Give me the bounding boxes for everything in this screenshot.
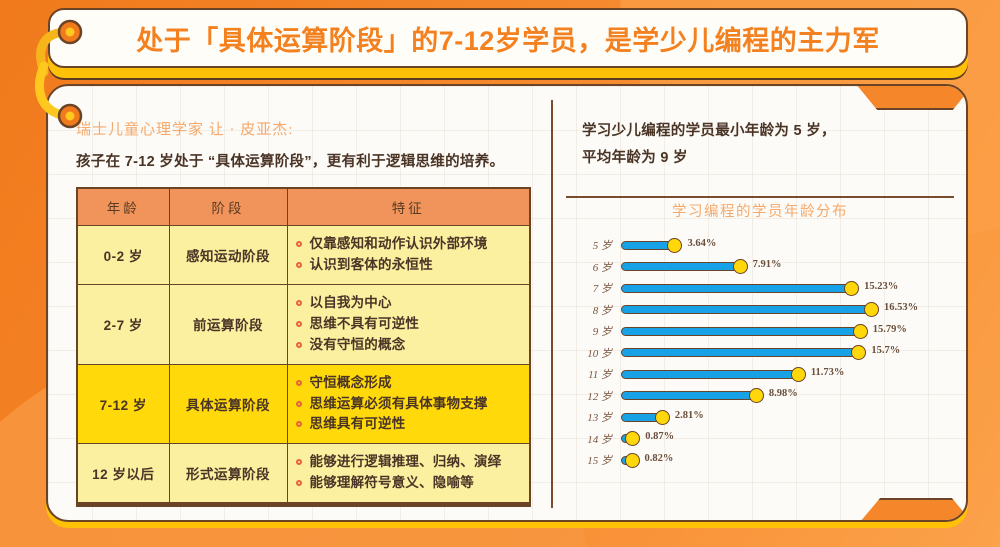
- bar-track: 7.91%: [621, 256, 958, 277]
- right-panel-divider: [566, 196, 954, 198]
- feature-item: 守恒概念形成: [294, 373, 524, 394]
- piaget-stage-table: 年龄 阶段 特征 0-2 岁感知运动阶段仅靠感知和动作认识外部环境认识到客体的永…: [76, 187, 531, 504]
- bar-category-label: 10 岁: [566, 345, 621, 361]
- bar-track: 2.81%: [621, 407, 958, 428]
- chart-bar-row: 15 岁0.82%: [566, 450, 958, 472]
- bar-fill: [621, 262, 742, 271]
- bar-category-label: 8 岁: [566, 302, 621, 318]
- cell-stage: 形式运算阶段: [169, 444, 287, 503]
- cell-features: 仅靠感知和动作认识外部环境认识到客体的永恒性: [287, 226, 530, 285]
- bar-value-label: 0.87%: [645, 431, 674, 442]
- cell-features: 守恒概念形成思维运算必须有具体事物支撑思维具有可逆性: [287, 364, 530, 444]
- bar-end-knob: [733, 259, 748, 274]
- feature-item: 以自我为中心: [294, 293, 524, 314]
- bar-category-label: 9 岁: [566, 323, 621, 339]
- cell-stage: 前运算阶段: [169, 284, 287, 364]
- chart-bar-row: 8 岁16.53%: [566, 299, 958, 321]
- cell-features: 以自我为中心思维不具有可逆性没有守恒的概念: [287, 284, 530, 364]
- feature-item: 能够进行逻辑推理、归纳、演绎: [294, 452, 524, 473]
- chart-bar-row: 6 岁7.91%: [566, 256, 958, 278]
- content-card: 瑞士儿童心理学家 让 · 皮亚杰: 孩子在 7-12 岁处于 “具体运算阶段”，…: [46, 84, 968, 522]
- chart-bar-row: 14 岁0.87%: [566, 428, 958, 450]
- feature-item: 思维运算必须有具体事物支撑: [294, 394, 524, 415]
- bar-value-label: 15.23%: [864, 281, 898, 292]
- page-title: 处于「具体运算阶段」的7-12岁学员，是学少儿编程的主力军: [136, 19, 880, 58]
- bar-value-label: 11.73%: [811, 367, 845, 378]
- bar-track: 0.87%: [621, 428, 958, 449]
- feature-item: 思维具有可逆性: [294, 414, 524, 435]
- right-headline: 学习少儿编程的学员最小年龄为 5 岁， 平均年龄为 9 岁: [582, 118, 960, 172]
- bar-category-label: 6 岁: [566, 259, 621, 275]
- chart-bar-row: 5 岁3.64%: [566, 235, 958, 257]
- bar-track: 11.73%: [621, 364, 958, 385]
- feature-item: 认识到客体的永恒性: [294, 255, 524, 276]
- chart-bar-row: 11 岁11.73%: [566, 364, 958, 386]
- column-header-feature: 特征: [287, 188, 530, 226]
- cell-features: 能够进行逻辑推理、归纳、演绎能够理解符号意义、隐喻等: [287, 444, 530, 503]
- feature-item: 能够理解符号意义、隐喻等: [294, 473, 524, 494]
- bar-fill: [621, 327, 862, 336]
- bar-value-label: 2.81%: [675, 410, 704, 421]
- cell-age: 7-12 岁: [77, 364, 169, 444]
- bar-end-knob: [667, 238, 682, 253]
- table-row: 12 岁以后形式运算阶段能够进行逻辑推理、归纳、演绎能够理解符号意义、隐喻等: [77, 444, 530, 503]
- chart-title: 学习编程的学员年龄分布: [560, 200, 960, 221]
- column-header-stage: 阶段: [169, 188, 287, 226]
- panel-divider: [551, 100, 553, 508]
- bar-value-label: 0.82%: [645, 453, 674, 464]
- table-body: 0-2 岁感知运动阶段仅靠感知和动作认识外部环境认识到客体的永恒性2-7 岁前运…: [77, 226, 530, 504]
- bar-end-knob: [791, 367, 806, 382]
- bar-track: 16.53%: [621, 299, 958, 320]
- bar-category-label: 12 岁: [566, 388, 621, 404]
- bar-category-label: 14 岁: [566, 431, 621, 447]
- title-banner: 处于「具体运算阶段」的7-12岁学员，是学少儿编程的主力军: [48, 8, 968, 68]
- chart-bar-row: 13 岁2.81%: [566, 407, 958, 429]
- bar-track: 3.64%: [621, 235, 958, 256]
- bar-end-knob: [844, 281, 859, 296]
- bar-value-label: 3.64%: [687, 238, 716, 249]
- bar-track: 8.98%: [621, 385, 958, 406]
- bar-value-label: 16.53%: [884, 302, 918, 313]
- chart-bar-row: 10 岁15.7%: [566, 342, 958, 364]
- cell-age: 0-2 岁: [77, 226, 169, 285]
- bar-track: 15.23%: [621, 278, 958, 299]
- bar-category-label: 15 岁: [566, 452, 621, 468]
- cell-age: 12 岁以后: [77, 444, 169, 503]
- bar-category-label: 5 岁: [566, 237, 621, 253]
- bar-fill: [621, 391, 758, 400]
- bar-end-knob: [851, 345, 866, 360]
- bar-category-label: 7 岁: [566, 280, 621, 296]
- bar-value-label: 8.98%: [769, 388, 798, 399]
- quote-author: 瑞士儿童心理学家 让 · 皮亚杰:: [76, 118, 546, 139]
- table-row: 0-2 岁感知运动阶段仅靠感知和动作认识外部环境认识到客体的永恒性: [77, 226, 530, 285]
- bar-end-knob: [625, 453, 640, 468]
- bar-track: 0.82%: [621, 450, 958, 471]
- right-headline-line2: 平均年龄为 9 岁: [582, 145, 960, 172]
- table-row: 2-7 岁前运算阶段以自我为中心思维不具有可逆性没有守恒的概念: [77, 284, 530, 364]
- table-row: 7-12 岁具体运算阶段守恒概念形成思维运算必须有具体事物支撑思维具有可逆性: [77, 364, 530, 444]
- right-panel: 学习少儿编程的学员最小年龄为 5 岁， 平均年龄为 9 岁 学习编程的学员年龄分…: [560, 96, 960, 514]
- infographic-page: 处于「具体运算阶段」的7-12岁学员，是学少儿编程的主力军 瑞士儿童心理学家 让…: [0, 0, 1000, 547]
- bar-fill: [621, 284, 853, 293]
- bar-end-knob: [749, 388, 764, 403]
- bar-fill: [621, 370, 800, 379]
- column-header-age: 年龄: [77, 188, 169, 226]
- left-panel: 瑞士儿童心理学家 让 · 皮亚杰: 孩子在 7-12 岁处于 “具体运算阶段”，…: [62, 96, 546, 514]
- bar-value-label: 15.79%: [873, 324, 907, 335]
- bar-fill: [621, 305, 873, 314]
- table-header-row: 年龄 阶段 特征: [77, 188, 530, 226]
- cell-stage: 感知运动阶段: [169, 226, 287, 285]
- bar-value-label: 15.7%: [871, 345, 900, 356]
- age-distribution-chart: 5 岁3.64%6 岁7.91%7 岁15.23%8 岁16.53%9 岁15.…: [566, 235, 958, 472]
- bar-category-label: 13 岁: [566, 409, 621, 425]
- bar-track: 15.79%: [621, 321, 958, 342]
- quote-body: 孩子在 7-12 岁处于 “具体运算阶段”，更有利于逻辑思维的培养。: [76, 150, 546, 171]
- chart-bar-row: 12 岁8.98%: [566, 385, 958, 407]
- bar-track: 15.7%: [621, 342, 958, 363]
- chart-bar-row: 7 岁15.23%: [566, 278, 958, 300]
- cell-age: 2-7 岁: [77, 284, 169, 364]
- right-headline-line1: 学习少儿编程的学员最小年龄为 5 岁，: [582, 118, 960, 145]
- feature-item: 思维不具有可逆性: [294, 314, 524, 335]
- bar-value-label: 7.91%: [753, 259, 782, 270]
- bar-end-knob: [864, 302, 879, 317]
- bar-fill: [621, 348, 860, 357]
- feature-item: 没有守恒的概念: [294, 335, 524, 356]
- bar-end-knob: [655, 410, 670, 425]
- feature-item: 仅靠感知和动作认识外部环境: [294, 234, 524, 255]
- cell-stage: 具体运算阶段: [169, 364, 287, 444]
- bar-category-label: 11 岁: [566, 366, 621, 382]
- bar-end-knob: [853, 324, 868, 339]
- binder-ring-bottom-icon: [22, 58, 92, 138]
- bar-end-knob: [625, 431, 640, 446]
- chart-bar-row: 9 岁15.79%: [566, 321, 958, 343]
